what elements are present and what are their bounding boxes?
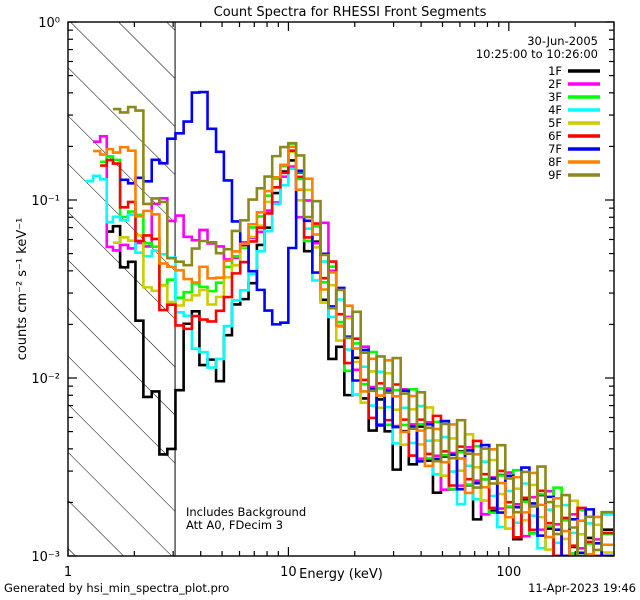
x-tick-label: 10 xyxy=(280,565,297,580)
legend-label-4f: 4F xyxy=(548,103,562,117)
legend-label-3f: 3F xyxy=(548,90,562,104)
spectrum-curve-9f xyxy=(113,107,613,556)
figure-root: Count Spectra for RHESSI Front Segments … xyxy=(0,0,640,600)
legend-label-5f: 5F xyxy=(548,116,562,130)
legend: 1F2F3F4F5F6F7F8F9F xyxy=(548,64,600,182)
y-axis-label: counts cm⁻² s⁻¹ keV⁻¹ xyxy=(15,218,30,361)
spectrum-curve-7f xyxy=(120,92,613,556)
observation-time-range: 10:25:00 to 10:26:00 xyxy=(476,47,598,61)
count-spectra-plot: Count Spectra for RHESSI Front Segments … xyxy=(0,0,640,600)
footer-generator: Generated by hsi_min_spectra_plot.pro xyxy=(4,581,229,595)
y-tick-label: 10⁻¹ xyxy=(31,194,60,209)
legend-label-7f: 7F xyxy=(548,142,562,156)
y-tick-label: 10⁰ xyxy=(38,16,60,31)
spectrum-curve-3f xyxy=(100,144,613,556)
footer-timestamp: 11-Apr-2023 19:46 xyxy=(528,581,636,595)
observation-date: 30-Jun-2005 xyxy=(527,34,598,48)
page-title: Count Spectra for RHESSI Front Segments xyxy=(214,5,487,20)
annotation-attenuator-state: Att A0, FDecim 3 xyxy=(186,518,283,532)
legend-label-1f: 1F xyxy=(548,64,562,78)
y-tick-label: 10⁻² xyxy=(31,372,60,387)
x-tick-label: 100 xyxy=(496,565,521,580)
annotation-includes-background: Includes Background xyxy=(186,505,306,519)
y-tick-label: 10⁻³ xyxy=(31,550,60,565)
legend-label-2f: 2F xyxy=(548,77,562,91)
spectrum-curve-6f xyxy=(100,151,613,556)
legend-label-6f: 6F xyxy=(548,129,562,143)
x-axis-label: Energy (keV) xyxy=(299,567,383,582)
legend-label-8f: 8F xyxy=(548,155,562,169)
legend-label-9f: 9F xyxy=(548,168,562,182)
x-tick-label: 1 xyxy=(64,565,72,580)
